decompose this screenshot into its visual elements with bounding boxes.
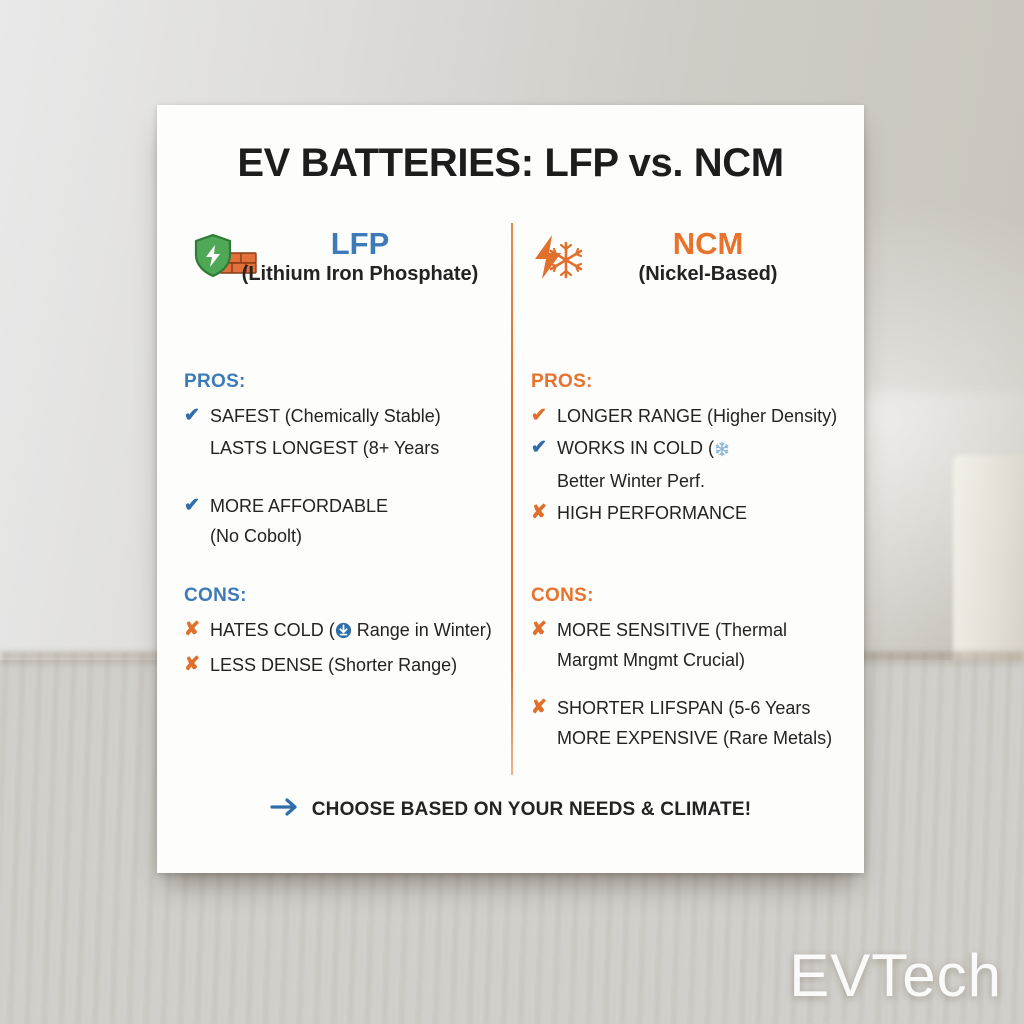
snowflake-icon	[714, 436, 730, 466]
list-item-line1: MORE AFFORDABLE	[210, 496, 388, 516]
ncm-subtitle: (Nickel-Based)	[553, 261, 863, 287]
list-item-text-before: WORKS IN COLD (	[557, 438, 714, 458]
lfp-name: LFP	[208, 227, 512, 261]
list-item-line2: Better Winter Perf.	[557, 466, 867, 496]
lfp-subtitle: (Lithium Iron Phosphate)	[208, 261, 512, 287]
list-item: ✔ MORE AFFORDABLE (No Cobolt)	[184, 491, 514, 551]
footer-text: CHOOSE BASED ON YOUR NEEDS & CLIMATE!	[312, 799, 752, 821]
check-icon: ✔	[184, 491, 210, 521]
page-title: EV BATTERIES: LFP vs. NCM	[157, 141, 864, 186]
list-item-line1: MORE SENSITIVE (Thermal	[557, 620, 787, 640]
watermark: EVTech	[789, 941, 1002, 1010]
list-item: ✘ HATES COLD ( Range in Winter)	[184, 615, 514, 648]
column-lfp: LFP (Lithium Iron Phosphate) PROS: ✔ SAF…	[172, 223, 512, 319]
cross-icon: ✘	[531, 615, 557, 645]
lfp-title-block: LFP (Lithium Iron Phosphate)	[172, 227, 512, 287]
footer-callout: CHOOSE BASED ON YOUR NEEDS & CLIMATE!	[157, 797, 864, 822]
lfp-pros-block: PROS: ✔ SAFEST (Chemically Stable) LASTS…	[184, 371, 514, 553]
cross-icon: ✘	[531, 498, 557, 528]
list-item: ✔ WORKS IN COLD (Better Winter Perf.	[531, 433, 867, 496]
cross-icon: ✘	[184, 615, 210, 645]
list-item-label: LASTS LONGEST (8+ Years	[210, 433, 514, 463]
list-item-label: MORE SENSITIVE (Thermal Margmt Mngmt Cru…	[557, 615, 867, 675]
list-item-label: LESS DENSE (Shorter Range)	[210, 650, 514, 680]
arrow-down-circle-icon	[335, 618, 352, 648]
check-icon: ✔	[531, 401, 557, 431]
list-item-label: HIGH PERFORMANCE	[557, 498, 867, 528]
ncm-cons-block: CONS: ✘ MORE SENSITIVE (Thermal Margmt M…	[531, 585, 867, 755]
ncm-pros-label: PROS:	[531, 371, 867, 393]
list-item-label: WORKS IN COLD (Better Winter Perf.	[557, 433, 867, 496]
list-item-label: MORE AFFORDABLE (No Cobolt)	[210, 491, 514, 551]
infographic-card: EV BATTERIES: LFP vs. NCM	[157, 105, 864, 873]
list-item-label: SAFEST (Chemically Stable)	[210, 401, 514, 431]
ncm-cons-label: CONS:	[531, 585, 867, 607]
column-ncm-header: NCM (Nickel-Based)	[523, 223, 863, 319]
cross-icon: ✘	[531, 693, 557, 723]
lfp-cons-label: CONS:	[184, 585, 514, 607]
list-item-text-before: HATES COLD (	[210, 620, 335, 640]
list-item-line1: SHORTER LIFSPAN (5-6 Years	[557, 698, 810, 718]
list-item-label: SHORTER LIFSPAN (5-6 Years MORE EXPENSIV…	[557, 693, 867, 753]
lfp-cons-block: CONS: ✘ HATES COLD ( Range in Winter) ✘ …	[184, 585, 514, 682]
list-item-text-after: Range in Winter)	[352, 620, 492, 640]
list-item: ✔ SAFEST (Chemically Stable)	[184, 401, 514, 431]
list-item-label: HATES COLD ( Range in Winter)	[210, 615, 514, 648]
list-item-line2: Margmt Mngmt Crucial)	[557, 645, 867, 675]
list-item: ✘ MORE SENSITIVE (Thermal Margmt Mngmt C…	[531, 615, 867, 675]
background-white-object	[953, 455, 1024, 660]
list-item-line2: (No Cobolt)	[210, 521, 514, 551]
list-item: LASTS LONGEST (8+ Years	[184, 433, 514, 463]
list-item: ✘ LESS DENSE (Shorter Range)	[184, 650, 514, 680]
check-icon: ✔	[184, 401, 210, 431]
arrow-right-icon	[270, 797, 300, 822]
ncm-name: NCM	[553, 227, 863, 261]
list-item: ✘ SHORTER LIFSPAN (5-6 Years MORE EXPENS…	[531, 693, 867, 753]
list-item-label: LONGER RANGE (Higher Density)	[557, 401, 867, 431]
cross-icon: ✘	[184, 650, 210, 680]
column-lfp-header: LFP (Lithium Iron Phosphate)	[172, 223, 512, 319]
column-ncm: NCM (Nickel-Based) PROS: ✔ LONGER RANGE …	[523, 223, 863, 319]
lfp-pros-label: PROS:	[184, 371, 514, 393]
check-icon: ✔	[531, 433, 557, 463]
ncm-title-block: NCM (Nickel-Based)	[523, 227, 863, 287]
list-item-line2: MORE EXPENSIVE (Rare Metals)	[557, 723, 867, 753]
ncm-pros-block: PROS: ✔ LONGER RANGE (Higher Density) ✔ …	[531, 371, 867, 530]
list-item: ✔ LONGER RANGE (Higher Density)	[531, 401, 867, 431]
list-item: ✘ HIGH PERFORMANCE	[531, 498, 867, 528]
